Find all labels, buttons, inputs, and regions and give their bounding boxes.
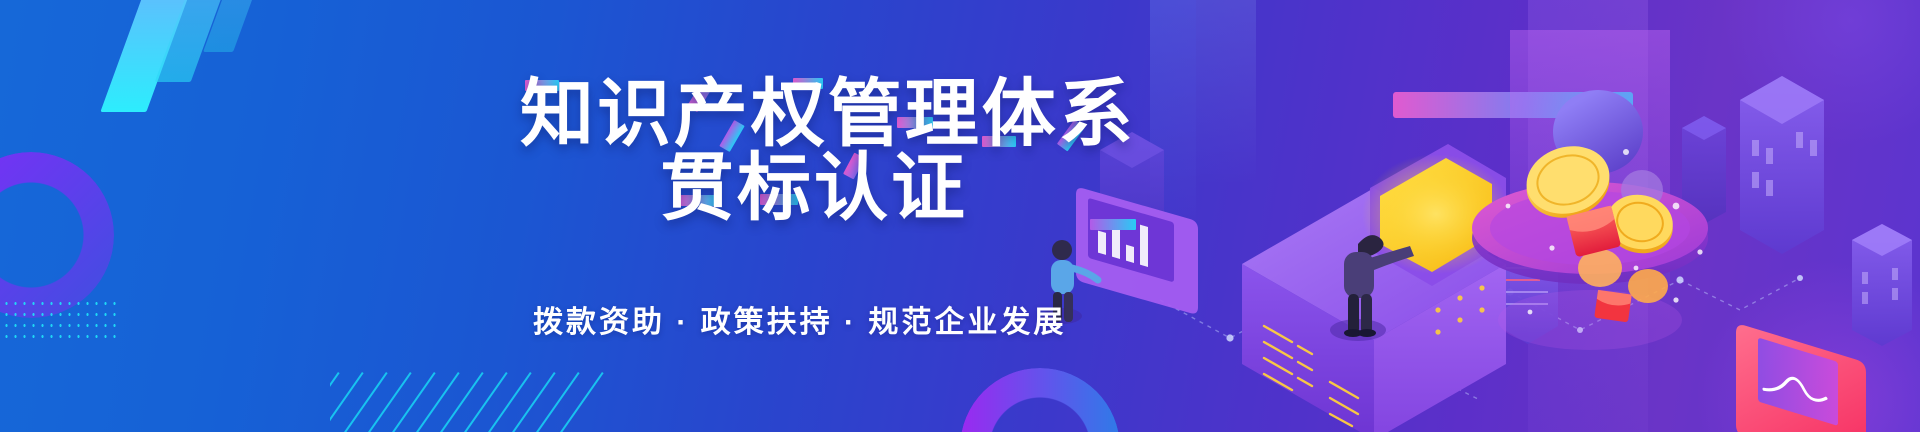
tower-tall [1740, 76, 1824, 254]
isometric-illustration [1040, 0, 1920, 432]
title-accent-chip [1090, 219, 1136, 230]
illustration-svg [1040, 0, 1920, 432]
banner-title-line-1: 知识产权管理体系 [520, 72, 1136, 156]
banner-subtitle: 拨款资助 · 政策扶持 · 规范企业发展 [533, 297, 1066, 341]
pink-chart-screen [1736, 323, 1866, 432]
tower-right-front [1852, 224, 1912, 346]
banner-copy: 知识产权管理体系 贯标认证 拨款资助 · 政策扶持 · 规范企业发展 [0, 0, 1100, 432]
promo-banner: 知识产权管理体系 贯标认证 拨款资助 · 政策扶持 · 规范企业发展 [0, 0, 1920, 432]
banner-title-line-2: 贯标认证 [660, 146, 968, 230]
